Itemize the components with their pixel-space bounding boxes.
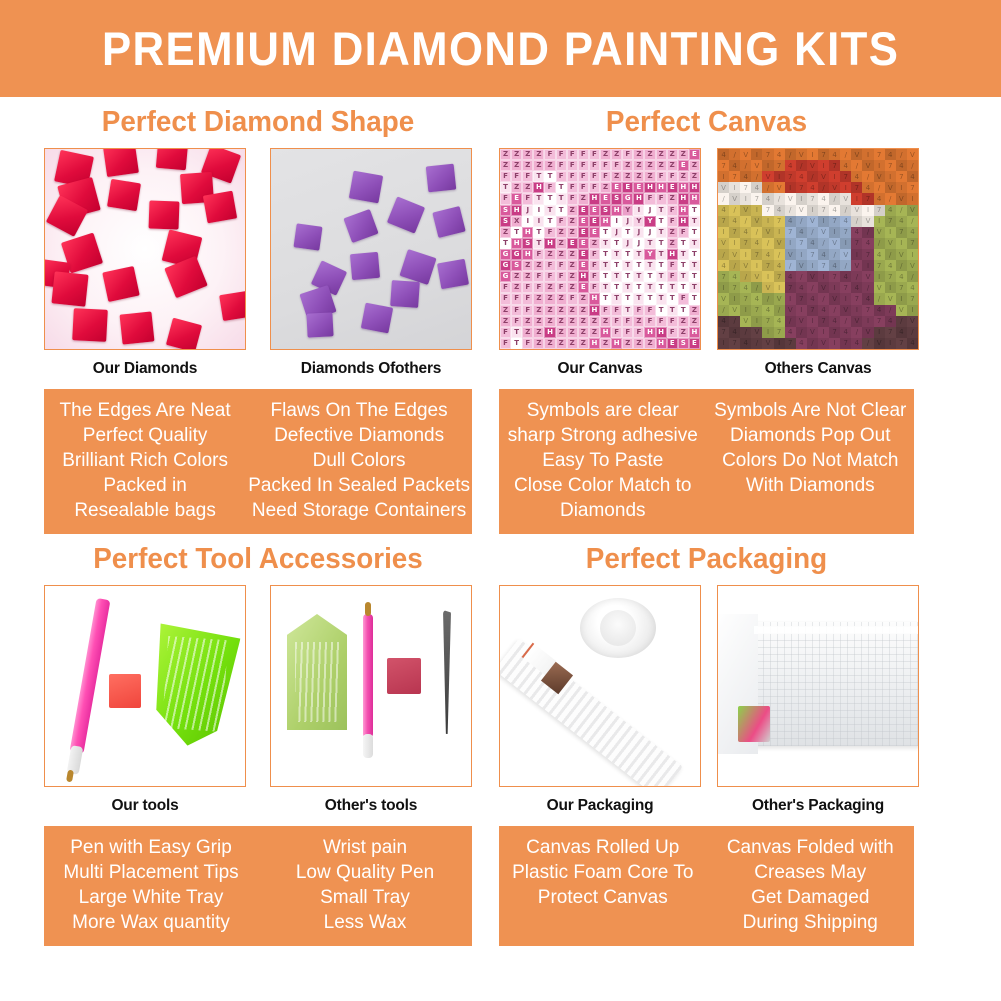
caption-others-canvas: Others Canvas [717,360,919,378]
compare-cell-our-canvas: ZZZZFFFFFZZFZZZZZEZZZZZFFFFFFZZZZZEZFFFT… [499,148,701,378]
section-diamond-shape: Perfect Diamond Shape [0,97,479,534]
compare-line: Protect Canvas [501,885,705,910]
pink-symbol-canvas-photo: ZZZZFFFFFZZFZZZZZEZZZZZFFFFFFZZZZZEZFFFT… [499,148,701,350]
image-pair-diamond-shape: Our Diamonds [44,148,472,378]
compare-cell-ours-diamonds: Our Diamonds [44,148,246,378]
compare-line: Defective Diamonds [248,423,470,448]
compare-line: Small Tray [260,885,470,910]
green-tray-grooves [162,636,228,732]
wax-square-shape [109,674,141,708]
caption-other-packaging: Other's Packaging [717,797,919,815]
compare-line: Close Color Match to [501,473,705,498]
compare-line: Resealable bags [46,498,244,523]
tube-cap-inner-shape [600,610,636,646]
compare-line: Diamonds Pop Out [709,423,913,448]
section-title-diamond-shape: Perfect Diamond Shape [53,106,464,139]
compare-textbox-canvas: Symbols are clear sharp Strong adhesive … [499,389,914,534]
compare-line: Packed in [46,473,244,498]
compare-line: Wrist pain [260,835,470,860]
compare-textbox-diamond-shape: The Edges Are Neat Perfect Quality Brill… [44,389,472,534]
compare-line: Dull Colors [248,448,470,473]
section-title-tool-accessories: Perfect Tool Accessories [53,543,464,576]
compare-line: Need Storage Containers [248,498,470,523]
compare-line: Get Damaged [709,885,913,910]
compare-list-ours-diamonds: The Edges Are Neat Perfect Quality Brill… [44,398,246,523]
image-pair-packaging: Our Packaging Other's Packaging [499,585,914,815]
caption-our-canvas: Our Canvas [499,360,701,378]
mailer-seam-shape [754,626,919,634]
section-canvas: Perfect Canvas ZZZZFFFFFZZFZZZZZEZZZZZFF… [479,97,958,534]
rolled-canvas-tube-photo [499,585,701,787]
compare-line: Multi Placement Tips [46,860,256,885]
compare-cell-our-tools: Our tools [44,585,246,815]
compare-line: Large White Tray [46,885,256,910]
compare-line: Pen with Easy Grip [46,835,256,860]
compare-cell-others-canvas: 4/VI74/VI74/VI74/V74/VI74/VI74/VI74/I74/… [717,148,919,378]
section-packaging: Perfect Packaging Our Packaging [479,534,958,946]
compare-line: Easy To Paste [501,448,705,473]
compare-cell-others-diamonds: Diamonds Ofothers [270,148,472,378]
blurry-color-canvas-photo: 4/VI74/VI74/VI74/V74/VI74/VI74/VI74/I74/… [717,148,919,350]
pink-pen-shape [70,598,111,754]
caption-other-tools: Other's tools [270,797,472,815]
compare-line: Diamonds [501,498,705,523]
compare-cell-other-packaging: Other's Packaging [717,585,919,815]
compare-line: Canvas Folded with [709,835,913,860]
other-pen-needle-shape [365,602,371,616]
page-title: PREMIUM DIAMOND PAINTING KITS [102,21,899,76]
comparison-row-2: Perfect Tool Accessories Our tools [0,534,1001,946]
section-title-packaging: Perfect Packaging [507,543,905,576]
small-green-tray-grooves [295,642,339,722]
image-pair-tools: Our tools Other's tools [44,585,472,815]
compare-line: Less Wax [260,910,470,935]
compare-list-our-canvas: Symbols are clear sharp Strong adhesive … [499,398,707,523]
compare-list-our-packaging: Canvas Rolled Up Plastic Foam Core To Pr… [499,835,707,935]
compare-line: sharp Strong adhesive [501,423,705,448]
compare-line: Symbols Are Not Clear [709,398,913,423]
compare-textbox-packaging: Canvas Rolled Up Plastic Foam Core To Pr… [499,826,914,946]
red-square-diamonds-photo [44,148,246,350]
compare-cell-other-tools: Other's tools [270,585,472,815]
green-tray-pen-wax-tweezers-photo [270,585,472,787]
comparison-row-1: Perfect Diamond Shape [0,97,1001,534]
pink-pen-wax-large-green-tray-photo [44,585,246,787]
compare-list-other-tools: Wrist pain Low Quality Pen Small Tray Le… [258,835,472,935]
mailer-contents-shape [738,706,770,742]
caption-our-tools: Our tools [44,797,246,815]
caption-our-diamonds: Our Diamonds [44,360,246,378]
compare-line: Packed In Sealed Packets [248,473,470,498]
other-wax-square-shape [387,658,421,694]
section-title-canvas: Perfect Canvas [507,106,905,139]
comparison-grid: Perfect Diamond Shape [0,97,1001,946]
section-tool-accessories: Perfect Tool Accessories Our tools [0,534,479,946]
compare-line: During Shipping [709,910,913,935]
purple-square-diamonds-photo [270,148,472,350]
other-pen-tip-shape [363,734,373,758]
compare-line: The Edges Are Neat [46,398,244,423]
compare-list-our-tools: Pen with Easy Grip Multi Placement Tips … [44,835,258,935]
tweezers-shape [443,610,451,734]
compare-list-other-packaging: Canvas Folded with Creases May Get Damag… [707,835,915,935]
compare-line: Low Quality Pen [260,860,470,885]
compare-line: Brilliant Rich Colors [46,448,244,473]
page-banner: PREMIUM DIAMOND PAINTING KITS [0,0,1001,97]
image-pair-canvas: ZZZZFFFFFZZFZZZZZEZZZZZFFFFFFZZZZZEZFFFT… [499,148,914,378]
compare-line: Creases May [709,860,913,885]
compare-line: Flaws On The Edges [248,398,470,423]
compare-line: Canvas Rolled Up [501,835,705,860]
compare-line: More Wax quantity [46,910,256,935]
other-pink-pen-shape [363,614,373,738]
compare-line: Perfect Quality [46,423,244,448]
compare-textbox-tools: Pen with Easy Grip Multi Placement Tips … [44,826,472,946]
compare-line: Plastic Foam Core To [501,860,705,885]
caption-other-diamonds: Diamonds Ofothers [270,360,472,378]
compare-list-others-canvas: Symbols Are Not Clear Diamonds Pop Out C… [707,398,915,523]
compare-cell-our-packaging: Our Packaging [499,585,701,815]
pen-needle-shape [66,770,74,783]
caption-our-packaging: Our Packaging [499,797,701,815]
compare-line: Symbols are clear [501,398,705,423]
compare-line: Colors Do Not Match [709,448,913,473]
compare-list-others-diamonds: Flaws On The Edges Defective Diamonds Du… [246,398,472,523]
folded-canvas-bubble-mailer-photo [717,585,919,787]
compare-line: With Diamonds [709,473,913,498]
